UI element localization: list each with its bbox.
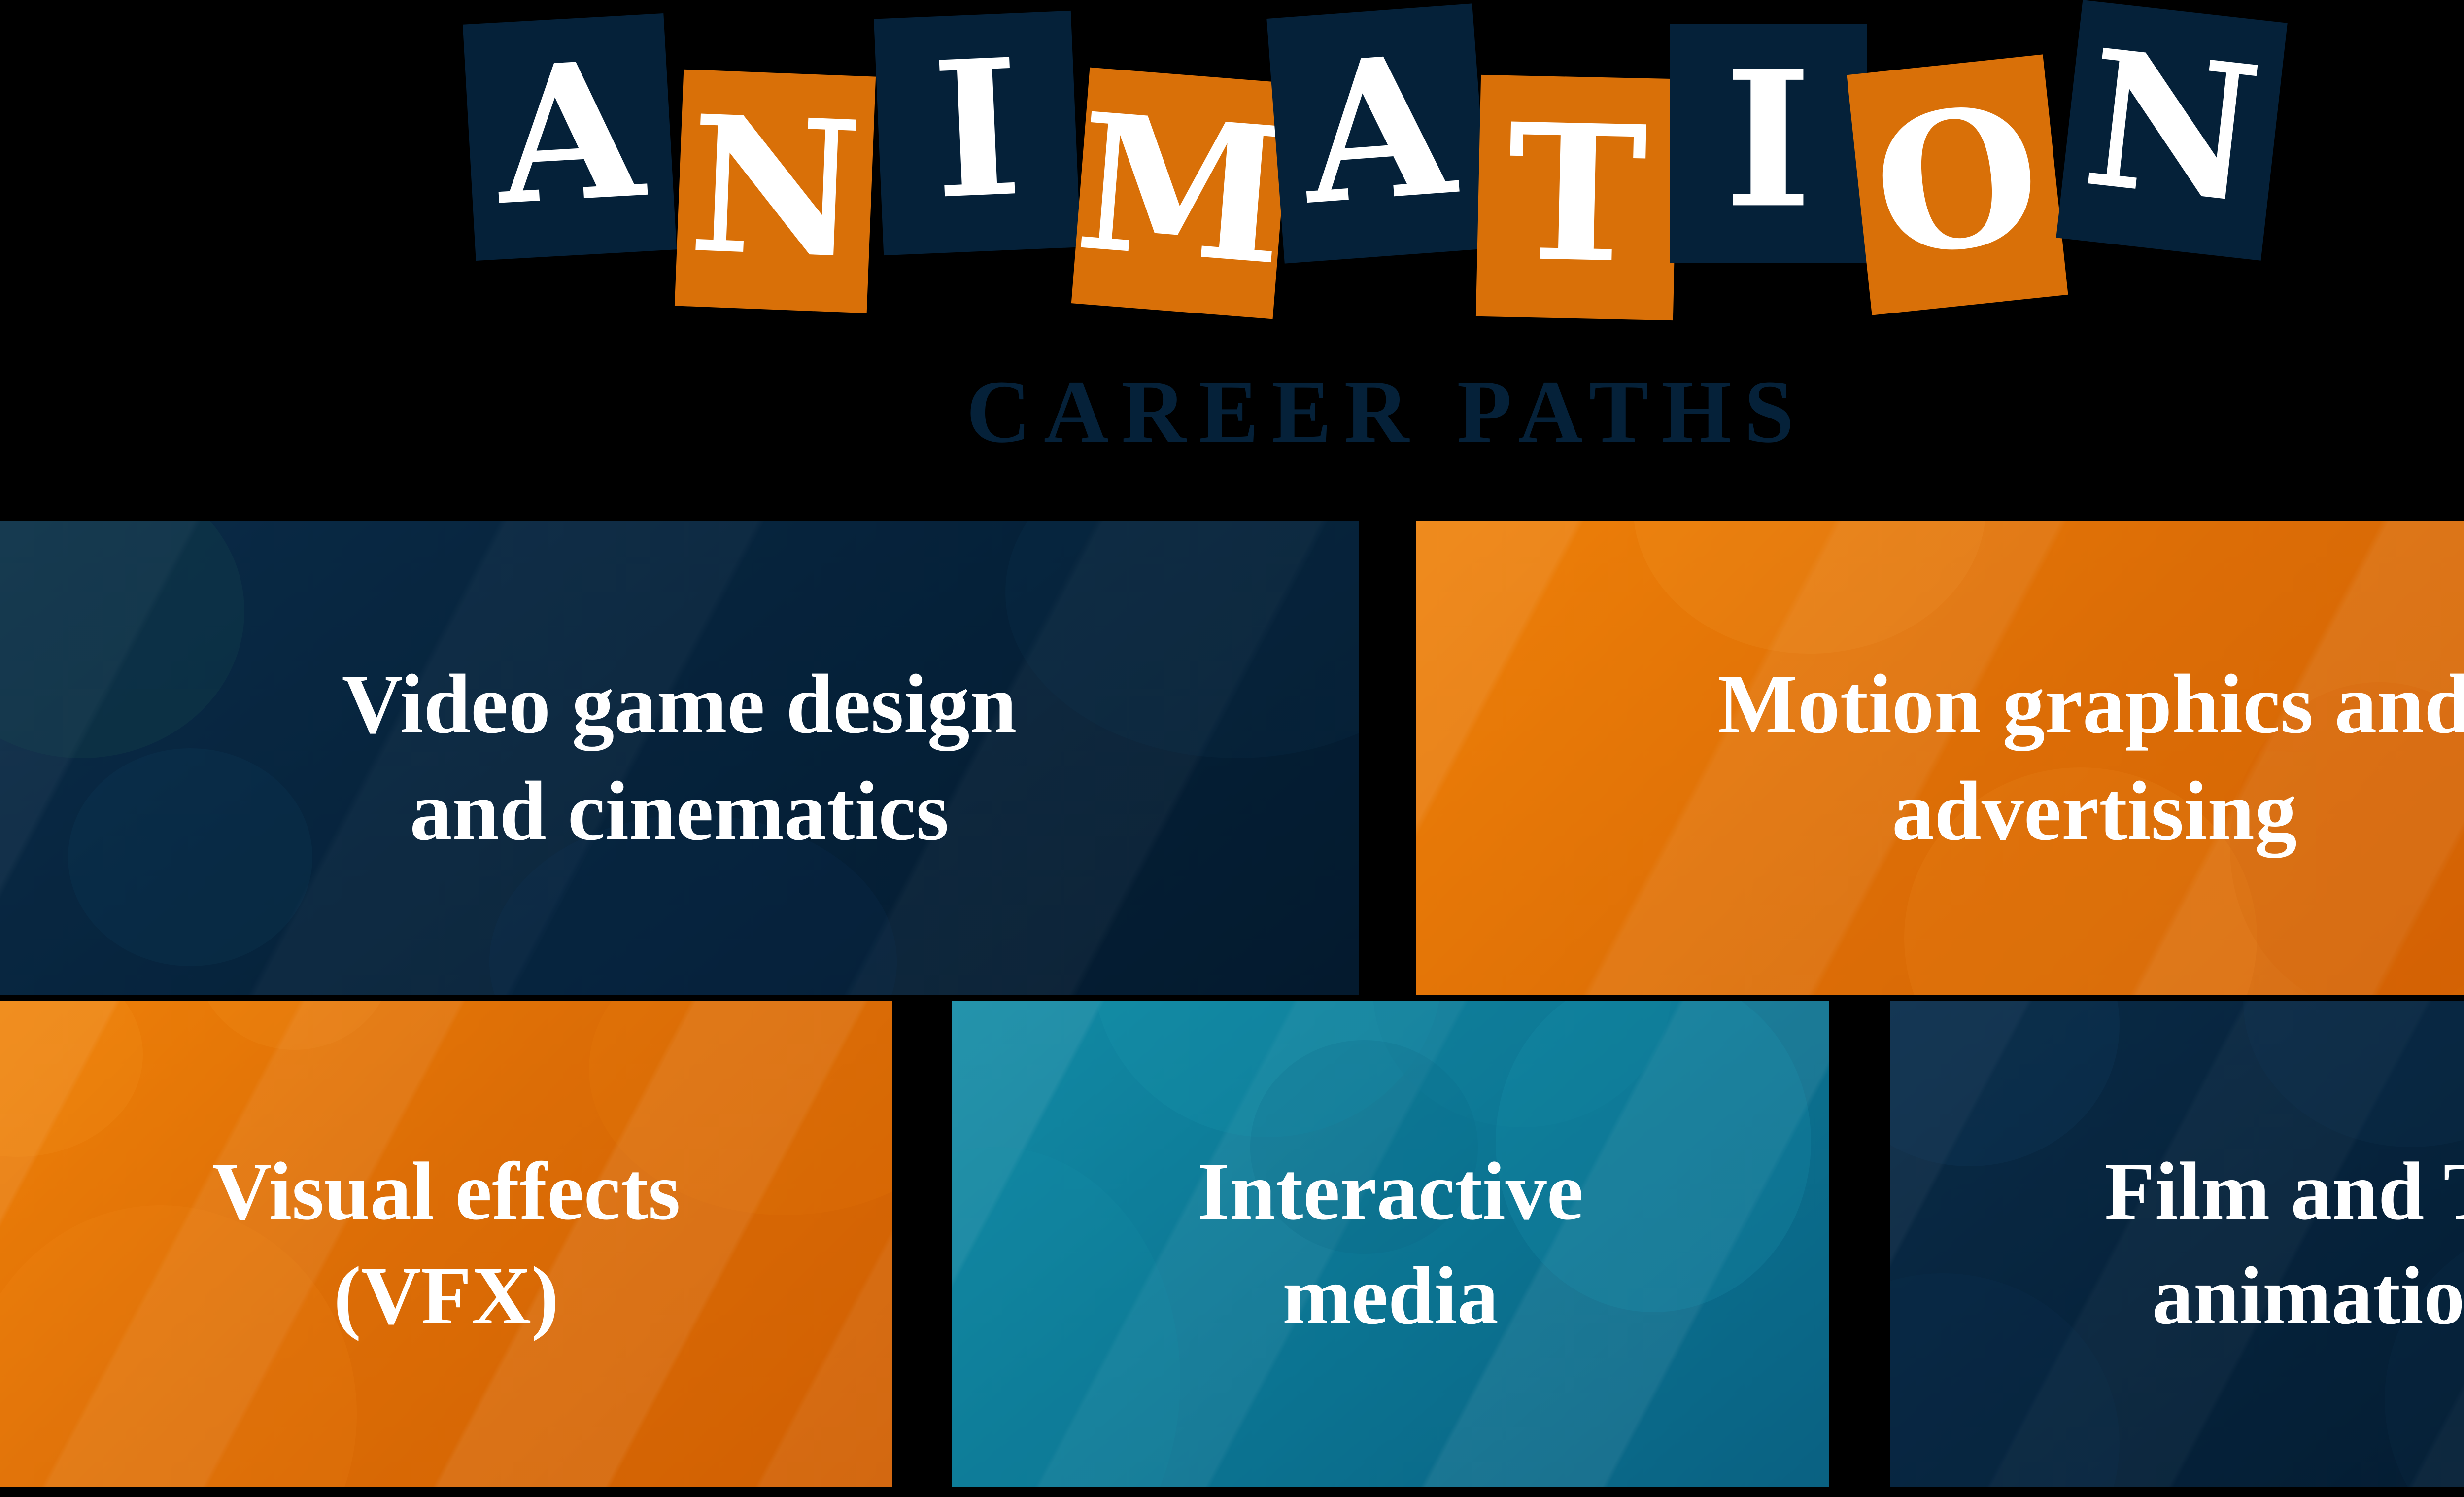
title-letter-char: O [1866, 79, 2048, 283]
title-letter-tiles: A N I M A T I O N [0, 0, 2464, 375]
career-card-label: Visual effects (VFX) [192, 1140, 700, 1348]
title-letter-char: A [1297, 29, 1459, 231]
title-letter-char: I [1724, 46, 1812, 233]
career-card-label: Film and TV animation [2085, 1140, 2464, 1348]
career-card-video-game-design[interactable]: Video game design and cinematics [0, 521, 1359, 995]
career-card-label: Interactive media [1178, 1140, 1604, 1348]
career-card-film-tv-animation[interactable]: Film and TV animation [1890, 1001, 2464, 1487]
title-letter-char: I [929, 34, 1025, 225]
career-card-label: Motion graphics and advertising [1698, 651, 2464, 865]
title-letter-char: T [1506, 99, 1649, 289]
title-tile-o: O [1847, 54, 2068, 315]
title-tile-a-1: A [463, 13, 677, 261]
subtitle: CAREER PATHS [0, 367, 2464, 457]
career-card-motion-graphics[interactable]: Motion graphics and advertising [1416, 521, 2464, 995]
career-card-visual-effects[interactable]: Visual effects (VFX) [0, 1001, 892, 1487]
title-tile-m: M [1071, 68, 1291, 319]
title-tile-n-1: N [675, 70, 876, 313]
title-tile-i-2: I [1670, 24, 1867, 263]
title-letter-char: N [686, 91, 864, 284]
career-paths-card-grid: Video game design and cinematics Motion … [0, 521, 2464, 1497]
title-tile-n-2: N [2056, 0, 2287, 261]
career-card-label: Video game design and cinematics [322, 651, 1037, 865]
title-tile-i-1: I [874, 11, 1081, 255]
title-tile-a-2: A [1266, 3, 1490, 263]
title-letter-char: N [2077, 24, 2268, 229]
animation-career-paths-poster: A N I M A T I O N CAREER PATHS [0, 0, 2464, 1497]
title-letter-char: A [492, 35, 648, 231]
title-letter-char: M [1071, 88, 1292, 291]
career-card-interactive-media[interactable]: Interactive media [952, 1001, 1829, 1487]
title-tile-t: T [1476, 75, 1678, 320]
